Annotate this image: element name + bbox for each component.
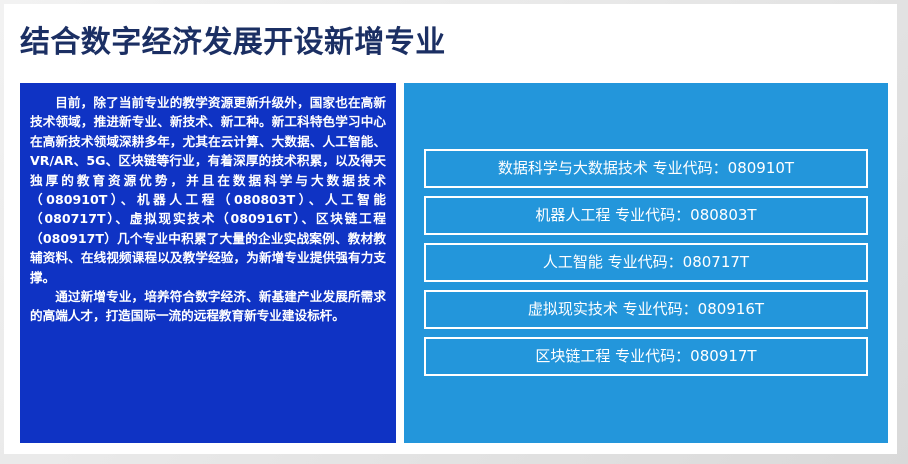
content-panels: 目前，除了当前专业的教学资源更新升级外，国家也在高新技术领域，推进新专业、新技术… [20,83,888,443]
left-description-panel: 目前，除了当前专业的教学资源更新升级外，国家也在高新技术领域，推进新专业、新技术… [20,83,396,443]
page-title: 结合数字经济发展开设新增专业 [20,21,720,65]
program-list: 数据科学与大数据技术 专业代码：080910T 机器人工程 专业代码：08080… [424,149,868,376]
description-paragraph-2: 通过新增专业，培养符合数字经济、新基建产业发展所需求的高端人才，打造国际一流的远… [30,287,386,326]
program-item-data-science[interactable]: 数据科学与大数据技术 专业代码：080910T [424,149,868,188]
program-item-blockchain-engineering[interactable]: 区块链工程 专业代码：080917T [424,337,868,376]
slide-canvas: 结合数字经济发展开设新增专业 目前，除了当前专业的教学资源更新升级外，国家也在高… [4,4,897,454]
program-item-robotics-engineering[interactable]: 机器人工程 专业代码：080803T [424,196,868,235]
right-program-panel: 数据科学与大数据技术 专业代码：080910T 机器人工程 专业代码：08080… [404,83,888,443]
program-item-virtual-reality[interactable]: 虚拟现实技术 专业代码：080916T [424,290,868,329]
program-item-artificial-intelligence[interactable]: 人工智能 专业代码：080717T [424,243,868,282]
slide-outer-frame: 结合数字经济发展开设新增专业 目前，除了当前专业的教学资源更新升级外，国家也在高… [0,0,908,464]
description-paragraph-1: 目前，除了当前专业的教学资源更新升级外，国家也在高新技术领域，推进新专业、新技术… [30,93,386,287]
description-text-block: 目前，除了当前专业的教学资源更新升级外，国家也在高新技术领域，推进新专业、新技术… [30,93,386,433]
